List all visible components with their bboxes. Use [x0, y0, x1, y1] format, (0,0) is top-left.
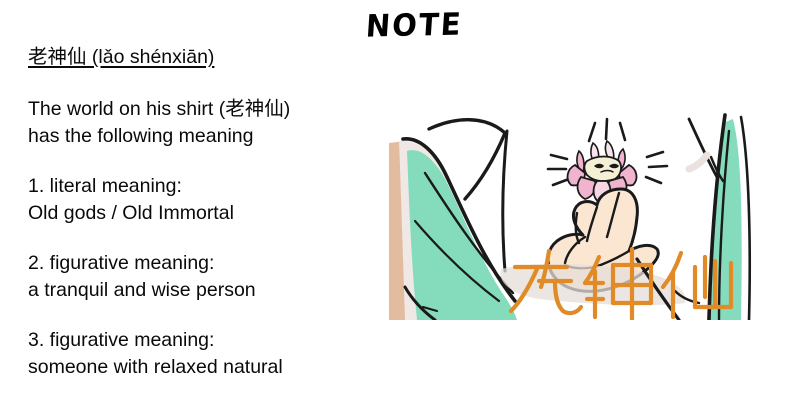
meaning-value: Old gods / Old Immortal — [28, 200, 378, 227]
notes-column: 老神仙 (lǎo shénxiān) The world on his shir… — [28, 44, 378, 380]
spacer — [28, 226, 378, 250]
spacer — [28, 70, 378, 96]
illustration-canvas — [389, 111, 773, 320]
meaning-value: a tranquil and wise person — [28, 277, 378, 304]
term-heading: 老神仙 (lǎo shénxiān) — [28, 44, 378, 70]
intro-paragraph: The world on his shirt (老神仙) has the fol… — [28, 96, 378, 149]
meaning-value: someone with relaxed natural — [28, 354, 378, 381]
spacer — [28, 303, 378, 327]
meaning-item-2: 2. figurative meaning: a tranquil and wi… — [28, 250, 378, 303]
spacer — [28, 149, 378, 173]
meaning-item-1: 1. literal meaning: Old gods / Old Immor… — [28, 173, 378, 226]
shirt-with-lotus-and-hand-illustration — [389, 111, 773, 320]
meaning-label: 2. figurative meaning: — [28, 250, 378, 277]
page-title: NOTE — [365, 6, 464, 44]
meaning-label: 1. literal meaning: — [28, 173, 378, 200]
meaning-item-3: 3. figurative meaning: someone with rela… — [28, 327, 378, 380]
meaning-label: 3. figurative meaning: — [28, 327, 378, 354]
